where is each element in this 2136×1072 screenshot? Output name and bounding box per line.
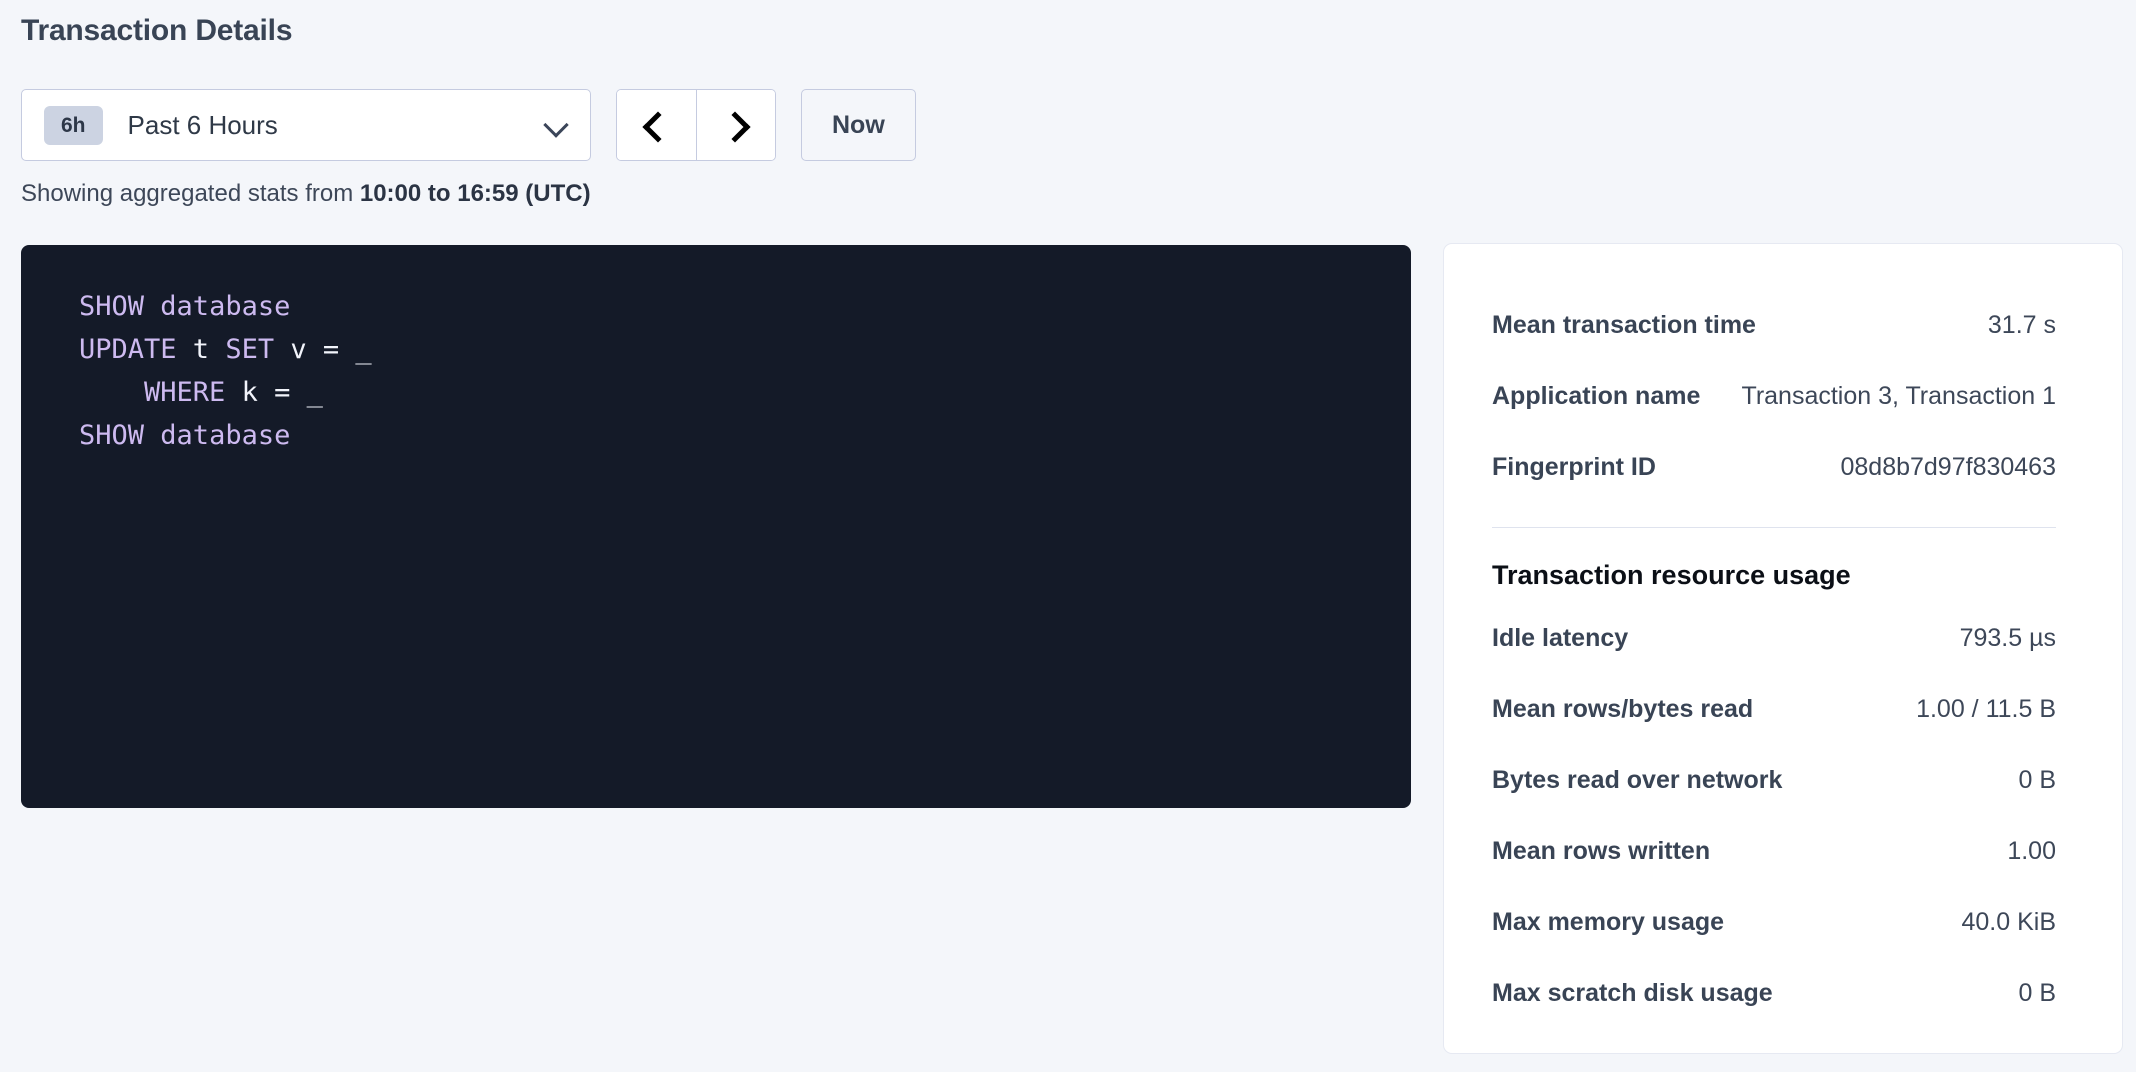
- sql-identifier: v = _: [274, 334, 372, 365]
- stat-label: Max memory usage: [1492, 908, 1724, 937]
- stat-label: Max scratch disk usage: [1492, 979, 1773, 1008]
- resource-usage-heading: Transaction resource usage: [1492, 546, 2056, 603]
- next-period-button[interactable]: [696, 90, 775, 160]
- stat-row: Max scratch disk usage0 B: [1492, 958, 2056, 1029]
- summary-stats-list: Mean transaction time31.7 sApplication n…: [1492, 290, 2056, 503]
- sql-keyword: database: [160, 420, 290, 451]
- previous-period-button[interactable]: [617, 90, 696, 160]
- stat-row: Fingerprint ID08d8b7d97f830463: [1492, 432, 2056, 503]
- stat-value: 0 B: [2018, 766, 2056, 795]
- sql-keyword: SHOW: [79, 420, 144, 451]
- stat-label: Fingerprint ID: [1492, 453, 1656, 482]
- stat-row: Mean rows written1.00: [1492, 816, 2056, 887]
- sql-keyword: SHOW: [79, 291, 144, 322]
- sql-keyword: UPDATE: [79, 334, 177, 365]
- stat-value: 1.00: [2007, 837, 2056, 866]
- stat-row: Bytes read over network0 B: [1492, 745, 2056, 816]
- transaction-stats-card: Mean transaction time31.7 sApplication n…: [1443, 243, 2123, 1054]
- stat-row: Application nameTransaction 3, Transacti…: [1492, 361, 2056, 432]
- stat-row: Mean transaction time31.7 s: [1492, 290, 2056, 361]
- transaction-details-page: Transaction Details 6h Past 6 Hours Now …: [0, 0, 2136, 1072]
- time-range-select[interactable]: 6h Past 6 Hours: [21, 89, 591, 161]
- sql-identifier: t: [177, 334, 226, 365]
- chevron-right-icon: [725, 114, 747, 136]
- sql-keyword: SET: [225, 334, 274, 365]
- stat-row: Idle latency793.5 µs: [1492, 603, 2056, 674]
- sql-identifier: [144, 291, 160, 322]
- aggregated-stats-time-range: 10:00 to 16:59 (UTC): [360, 180, 591, 207]
- stat-label: Bytes read over network: [1492, 766, 1782, 795]
- stat-value: 793.5 µs: [1960, 624, 2056, 653]
- sql-statement-block: SHOW database UPDATE t SET v = _ WHERE k…: [21, 245, 1411, 808]
- sql-identifier: [79, 377, 144, 408]
- sql-identifier: [144, 420, 160, 451]
- chevron-down-icon: [544, 112, 570, 138]
- stat-label: Mean rows written: [1492, 837, 1710, 866]
- sql-keyword: WHERE: [144, 377, 225, 408]
- chevron-left-icon: [646, 114, 668, 136]
- stats-divider: [1492, 527, 2056, 528]
- sql-identifier: k = _: [225, 377, 323, 408]
- aggregated-stats-range: Showing aggregated stats from 10:00 to 1…: [21, 180, 591, 208]
- stat-label: Mean rows/bytes read: [1492, 695, 1753, 724]
- stat-label: Idle latency: [1492, 624, 1628, 653]
- stat-value: 1.00 / 11.5 B: [1916, 695, 2056, 724]
- resource-stats-list: Idle latency793.5 µsMean rows/bytes read…: [1492, 603, 2056, 1029]
- aggregated-stats-prefix: Showing aggregated stats from: [21, 180, 360, 207]
- page-title: Transaction Details: [21, 14, 292, 48]
- stat-value: Transaction 3, Transaction 1: [1741, 382, 2056, 411]
- stat-value: 40.0 KiB: [1961, 908, 2056, 937]
- time-nav-group: [616, 89, 776, 161]
- stat-label: Mean transaction time: [1492, 311, 1756, 340]
- stat-value: 08d8b7d97f830463: [1840, 453, 2056, 482]
- sql-code: SHOW database UPDATE t SET v = _ WHERE k…: [79, 285, 1411, 457]
- stat-label: Application name: [1492, 382, 1700, 411]
- stat-row: Max memory usage40.0 KiB: [1492, 887, 2056, 958]
- stat-row: Mean rows/bytes read1.00 / 11.5 B: [1492, 674, 2056, 745]
- now-button[interactable]: Now: [801, 89, 916, 161]
- time-range-label: Past 6 Hours: [128, 110, 544, 141]
- stat-value: 0 B: [2018, 979, 2056, 1008]
- time-range-toolbar: 6h Past 6 Hours Now: [21, 89, 916, 161]
- sql-keyword: database: [160, 291, 290, 322]
- time-range-badge: 6h: [44, 106, 103, 145]
- stat-value: 31.7 s: [1988, 311, 2056, 340]
